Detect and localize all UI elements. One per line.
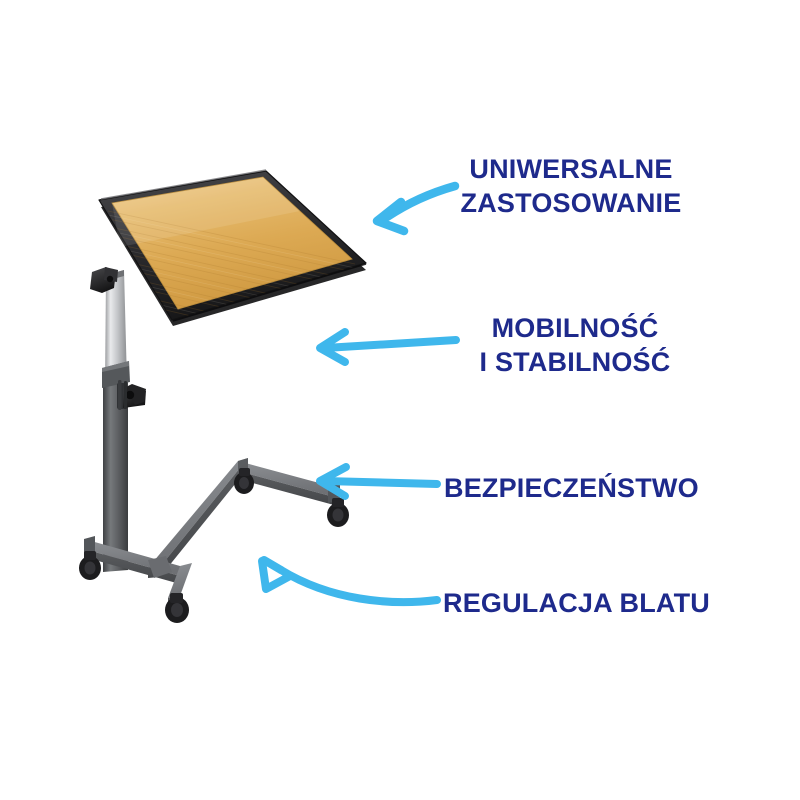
callout-line: I STABILNOŚĆ bbox=[474, 346, 676, 380]
callout-arrow-layer bbox=[0, 0, 800, 800]
straight-arrow-left-icon bbox=[320, 467, 437, 496]
callout-line: BEZPIECZEŃSTWO bbox=[444, 472, 699, 506]
callout-line: ZASTOSOWANIE bbox=[455, 187, 687, 221]
curved-arrow-up-left-icon bbox=[262, 560, 437, 602]
callout-label-safety: BEZPIECZEŃSTWO bbox=[444, 472, 699, 506]
curved-arrow-left-down-icon bbox=[377, 186, 455, 231]
callout-line: MOBILNOŚĆ bbox=[474, 312, 676, 346]
product-infographic-canvas: UNIWERSALNE ZASTOSOWANIE MOBILNOŚĆ I STA… bbox=[0, 0, 800, 800]
callout-label-universal: UNIWERSALNE ZASTOSOWANIE bbox=[455, 153, 687, 221]
straight-arrow-left-icon bbox=[320, 332, 456, 362]
callout-line: REGULACJA BLATU bbox=[443, 587, 710, 621]
callout-label-mobility: MOBILNOŚĆ I STABILNOŚĆ bbox=[474, 312, 676, 380]
callout-label-adjust: REGULACJA BLATU bbox=[443, 587, 710, 621]
callout-line: UNIWERSALNE bbox=[455, 153, 687, 187]
